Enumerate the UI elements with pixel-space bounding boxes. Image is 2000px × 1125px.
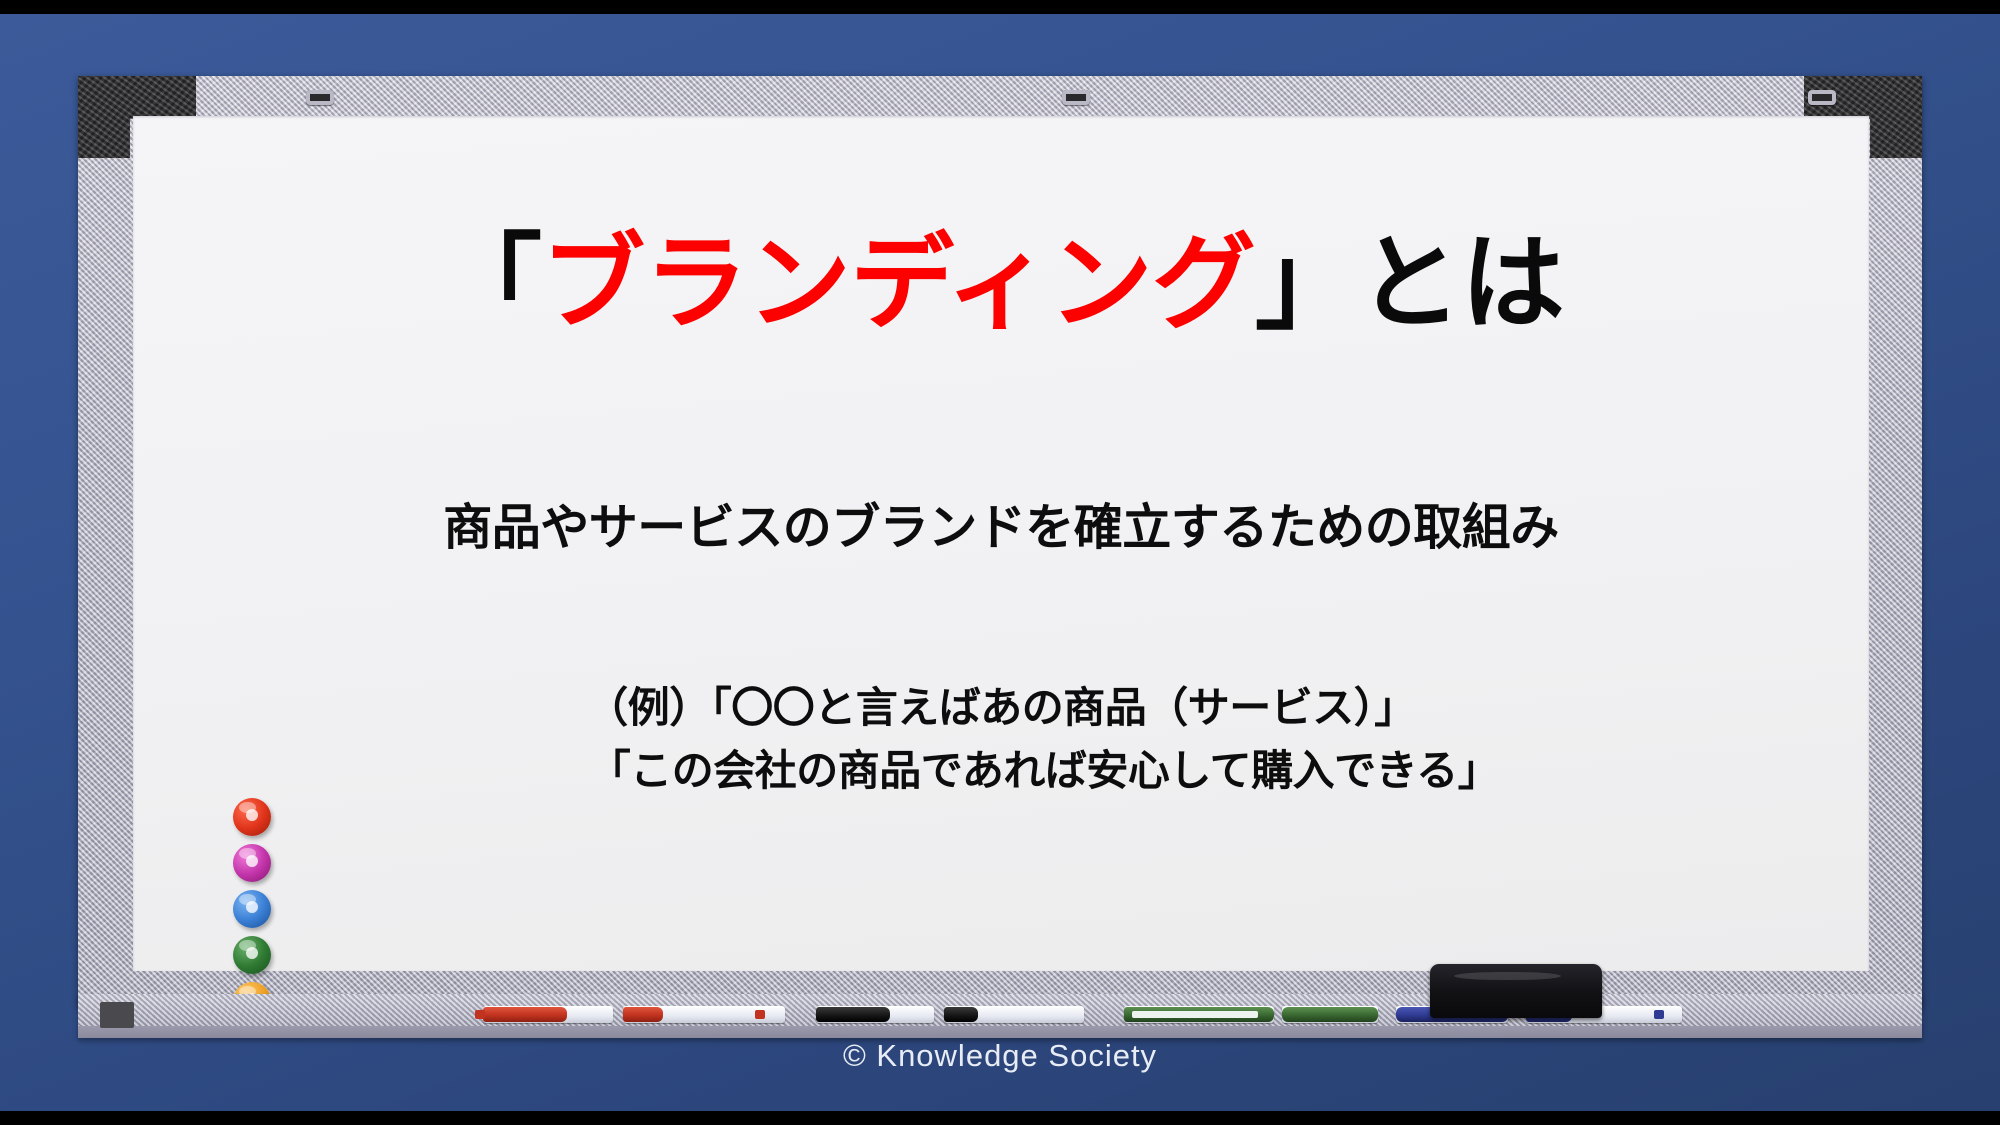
magnet-blue[interactable]: [233, 890, 271, 928]
top-clip-right-icon: [1808, 90, 1836, 105]
marker-cap: [483, 1007, 567, 1022]
marker-cap: [816, 1007, 890, 1022]
slide-content: 「ブランディング」とは 商品やサービスのブランドを確立するための取組み （例）「…: [133, 116, 1869, 971]
title-highlight: ブランディング: [541, 226, 1255, 342]
page-title: 「ブランディング」とは: [133, 228, 1869, 340]
marker-nib: [755, 1010, 765, 1019]
subtitle-text: 商品やサービスのブランドを確立するための取組み: [133, 488, 1869, 559]
marker-red-2[interactable]: [623, 1006, 785, 1023]
examples-block: （例）「〇〇と言えばあの商品（サービス）」 「この会社の商品であれば安心して購入…: [133, 676, 1869, 802]
marker-green-2[interactable]: [1282, 1006, 1378, 1023]
marker-nib: [1654, 1010, 1664, 1019]
whiteboard: 「ブランディング」とは 商品やサービスのブランドを確立するための取組み （例）「…: [78, 76, 1922, 1039]
marker-cap: [1282, 1007, 1378, 1022]
slide-background: 「ブランディング」とは 商品やサービスのブランドを確立するための取組み （例）「…: [0, 14, 2000, 1111]
tray-lip: [78, 1026, 1922, 1038]
marker-black-2[interactable]: [944, 1006, 1084, 1023]
whiteboard-tray: [78, 994, 1922, 1038]
example-line-1: （例）「〇〇と言えばあの商品（サービス）」: [133, 676, 1869, 739]
magnet-green[interactable]: [233, 936, 271, 974]
magnet-red[interactable]: [233, 798, 271, 836]
marker-black-1[interactable]: [816, 1006, 934, 1023]
marker-stripe: [1132, 1011, 1258, 1018]
top-clip-center-icon: [1062, 90, 1090, 105]
copyright-footer: © Knowledge Society: [0, 1038, 2000, 1074]
slide-stage: 「ブランディング」とは 商品やサービスのブランドを確立するための取組み （例）「…: [0, 0, 2000, 1125]
marker-green-1[interactable]: [1124, 1006, 1274, 1023]
example-line-2: 「この会社の商品であれば安心して購入できる」: [133, 739, 1869, 802]
top-clip-left-icon: [306, 90, 334, 105]
whiteboard-surface: 「ブランディング」とは 商品やサービスのブランドを確立するための取組み （例）「…: [133, 116, 1869, 971]
title-suffix: 」とは: [1255, 226, 1564, 342]
marker-red-1[interactable]: [483, 1006, 613, 1023]
whiteboard-frame: 「ブランディング」とは 商品やサービスのブランドを確立するための取組み （例）「…: [78, 76, 1922, 1006]
whiteboard-eraser[interactable]: [1430, 964, 1602, 1018]
marker-nib: [475, 1010, 485, 1019]
magnet-magenta[interactable]: [233, 844, 271, 882]
tray-end-stop: [100, 1002, 134, 1028]
title-open-bracket: 「: [438, 226, 541, 342]
marker-cap: [944, 1007, 978, 1022]
marker-cap: [623, 1007, 663, 1022]
